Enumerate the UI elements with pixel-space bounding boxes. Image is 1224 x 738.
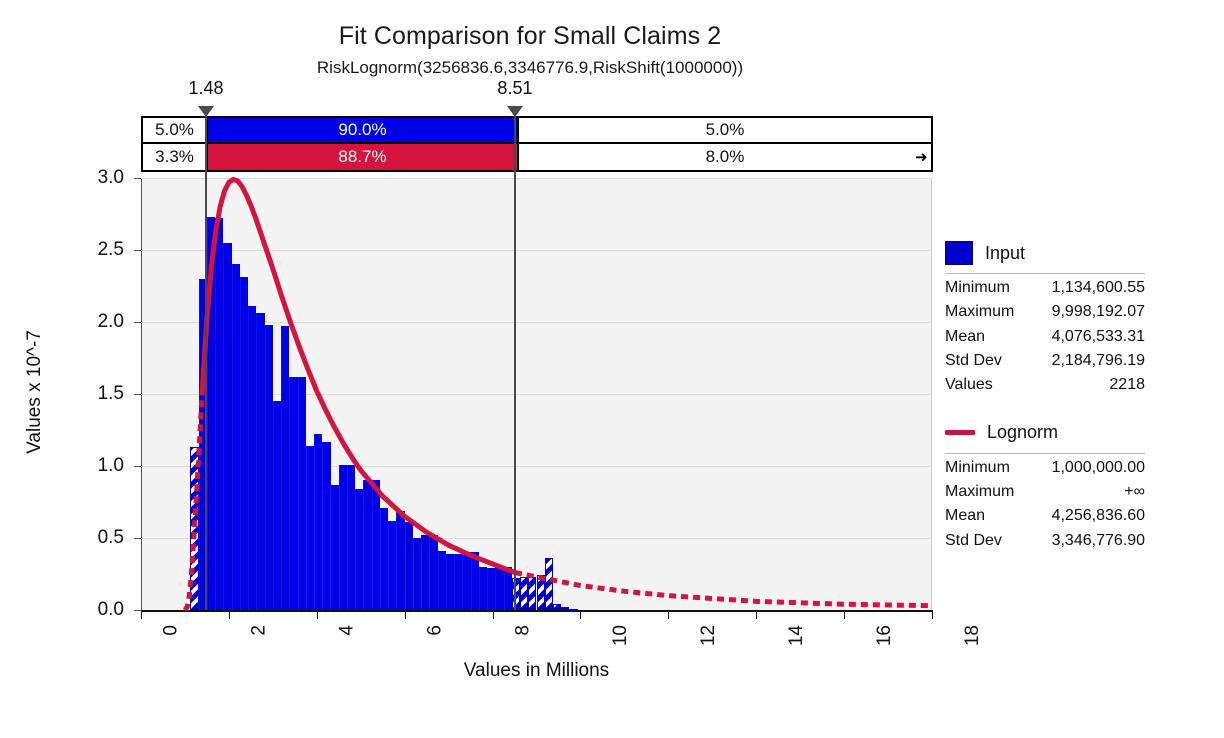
x-tick (493, 612, 494, 619)
x-tick (756, 612, 757, 619)
x-tick-label: 16 (874, 625, 896, 646)
x-tick-label: 14 (786, 625, 808, 646)
legend-divider (945, 273, 1145, 274)
stat-key: Maximum (945, 480, 1014, 504)
y-tick (134, 250, 141, 251)
stat-row: Values2218 (945, 373, 1145, 397)
y-tick (134, 322, 141, 323)
legend-fit-header: Lognorm (945, 420, 1145, 446)
stat-row: Maximum+∞ (945, 480, 1145, 504)
x-tick (141, 612, 142, 619)
fit-curve-inside (203, 179, 515, 572)
x-tick-label: 6 (424, 625, 446, 636)
x-tick-label: 0 (161, 625, 183, 636)
lognorm-swatch-icon (945, 430, 975, 435)
x-tick-label: 10 (611, 625, 633, 646)
stat-value: 4,256,836.60 (1052, 504, 1145, 528)
x-tick (229, 612, 230, 619)
stat-key: Mean (945, 504, 985, 528)
y-tick-label: 1.5 (66, 383, 124, 405)
x-tick-label: 4 (336, 625, 358, 636)
left-delimiter-line[interactable] (205, 116, 207, 610)
x-tick-label: 12 (698, 625, 720, 646)
fit-stats-table: Minimum1,000,000.00Maximum+∞Mean4,256,83… (945, 456, 1145, 553)
input-stats-table: Minimum1,134,600.55Maximum9,998,192.07Me… (945, 276, 1145, 398)
y-tick (134, 394, 141, 395)
stat-value: 2,184,796.19 (1052, 349, 1145, 373)
legend-spacer (945, 398, 1145, 420)
legend-panel: Input Minimum1,134,600.55Maximum9,998,19… (945, 240, 1145, 553)
x-tick-label: 8 (512, 625, 534, 636)
legend-fit-label: Lognorm (987, 422, 1058, 443)
x-tick-label: 2 (248, 625, 270, 636)
x-tick (932, 612, 933, 619)
stat-key: Std Dev (945, 349, 1002, 373)
y-tick (134, 466, 141, 467)
x-tick (317, 612, 318, 619)
infinity-arrow-icon: ➜ (915, 150, 928, 165)
x-tick (405, 612, 406, 619)
legend-input-label: Input (985, 243, 1025, 264)
stat-row: Std Dev2,184,796.19 (945, 349, 1145, 373)
fit-curve-right-tail (515, 573, 932, 606)
stat-key: Std Dev (945, 529, 1002, 553)
stat-value: 3,346,776.90 (1052, 529, 1145, 553)
stat-value: 2218 (1109, 373, 1145, 397)
stat-row: Minimum1,000,000.00 (945, 456, 1145, 480)
stat-row: Mean4,256,836.60 (945, 504, 1145, 528)
stat-key: Mean (945, 325, 985, 349)
stat-row: Mean4,076,533.31 (945, 325, 1145, 349)
right-delimiter-line[interactable] (514, 116, 516, 610)
x-tick (844, 612, 845, 619)
y-tick-label: 2.0 (66, 311, 124, 333)
stat-value: +∞ (1124, 480, 1145, 504)
stat-value: 9,998,192.07 (1052, 300, 1145, 324)
stat-row: Maximum9,998,192.07 (945, 300, 1145, 324)
left-delimiter-handle[interactable] (198, 106, 214, 117)
legend-input-header: Input (945, 240, 1145, 266)
stat-value: 4,076,533.31 (1052, 325, 1145, 349)
stat-key: Minimum (945, 456, 1010, 480)
y-axis-title: Values x 10^-7 (24, 262, 46, 522)
x-axis-title: Values in Millions (141, 660, 932, 682)
y-tick-label: 0.0 (66, 599, 124, 621)
y-tick (134, 178, 141, 179)
stat-row: Minimum1,134,600.55 (945, 276, 1145, 300)
legend-divider (945, 453, 1145, 454)
x-tick (668, 612, 669, 619)
stat-key: Values (945, 373, 993, 397)
right-delimiter-handle[interactable] (507, 106, 523, 117)
x-tick-label: 18 (962, 625, 984, 646)
x-tick (580, 612, 581, 619)
y-tick-label: 2.5 (66, 239, 124, 261)
stat-key: Minimum (945, 276, 1010, 300)
stat-value: 1,134,600.55 (1052, 276, 1145, 300)
input-swatch-icon (945, 241, 973, 265)
y-tick-label: 0.5 (66, 527, 124, 549)
stat-row: Std Dev3,346,776.90 (945, 529, 1145, 553)
stat-value: 1,000,000.00 (1052, 456, 1145, 480)
y-tick-label: 3.0 (66, 167, 124, 189)
y-tick (134, 610, 141, 611)
stat-key: Maximum (945, 300, 1014, 324)
y-tick-label: 1.0 (66, 455, 124, 477)
y-tick (134, 538, 141, 539)
